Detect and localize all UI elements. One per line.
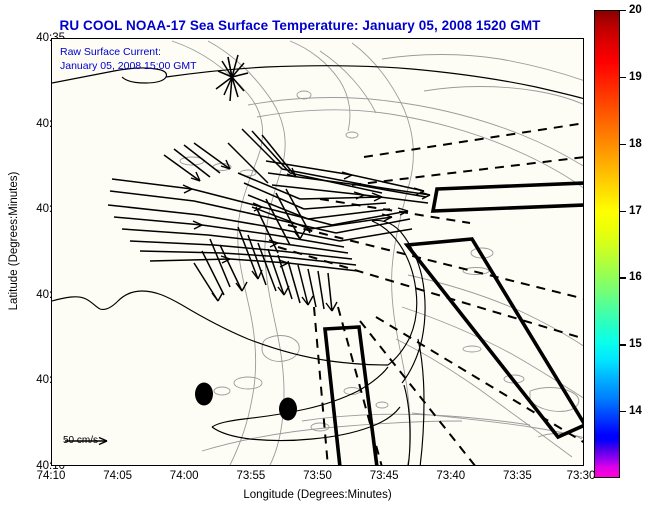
colorbar-tick [620, 144, 626, 145]
annotation-line-2: January 05, 2008 15:00 GMT [60, 59, 197, 73]
map-canvas: Raw Surface Current: January 05, 2008 15… [52, 39, 583, 465]
surface-current-vectors [108, 55, 430, 311]
station-markers [195, 383, 297, 421]
x-tick-label: 73:30 [567, 470, 596, 482]
colorbar-tick-label: 18 [629, 138, 642, 150]
colorbar-tick [620, 277, 626, 278]
scale-legend: 50 cm/s [63, 435, 98, 447]
x-tick-label: 73:45 [370, 470, 399, 482]
x-tick-label: 73:40 [436, 470, 465, 482]
colorbar-tick [620, 77, 626, 78]
colorbar-tick [620, 344, 626, 345]
colorbar-tick [620, 211, 626, 212]
map-layers [52, 39, 583, 465]
colorbar [594, 10, 620, 478]
current-annotation: Raw Surface Current: January 05, 2008 15… [60, 45, 197, 73]
scale-arrow-icon [63, 435, 115, 447]
x-axis-label: Longitude (Degrees:Minutes) [51, 489, 584, 501]
colorbar-tick-label: 20 [629, 4, 642, 16]
bathymetry-contours [172, 41, 583, 465]
annotation-line-1: Raw Surface Current: [60, 45, 197, 59]
colorbar-tick-label: 14 [629, 405, 642, 417]
page-title: RU COOL NOAA-17 Sea Surface Temperature:… [0, 18, 600, 33]
colorbar-tick [620, 411, 626, 412]
shipping-lanes [325, 183, 583, 465]
colorbar-tick-label: 19 [629, 71, 642, 83]
colorbar-tick-label: 16 [629, 271, 642, 283]
coastline [52, 66, 583, 465]
colorbar-tick [620, 10, 626, 11]
x-tick-label: 73:50 [303, 470, 332, 482]
colorbar-tick-label: 17 [629, 205, 642, 217]
figure: RU COOL NOAA-17 Sea Surface Temperature:… [0, 0, 651, 518]
map-plot-area: Raw Surface Current: January 05, 2008 15… [51, 38, 584, 466]
station-marker [195, 383, 213, 406]
station-marker [279, 398, 297, 421]
x-tick-label: 73:35 [503, 470, 532, 482]
x-tick-label: 73:55 [237, 470, 266, 482]
x-tick-label: 74:05 [103, 470, 132, 482]
x-tick-label: 74:10 [37, 470, 66, 482]
traffic-separation-lines [278, 123, 583, 465]
x-tick-label: 74:00 [170, 470, 199, 482]
y-axis-label: Latitude (Degrees:Minutes) [8, 141, 20, 341]
colorbar-tick-label: 15 [629, 338, 642, 350]
